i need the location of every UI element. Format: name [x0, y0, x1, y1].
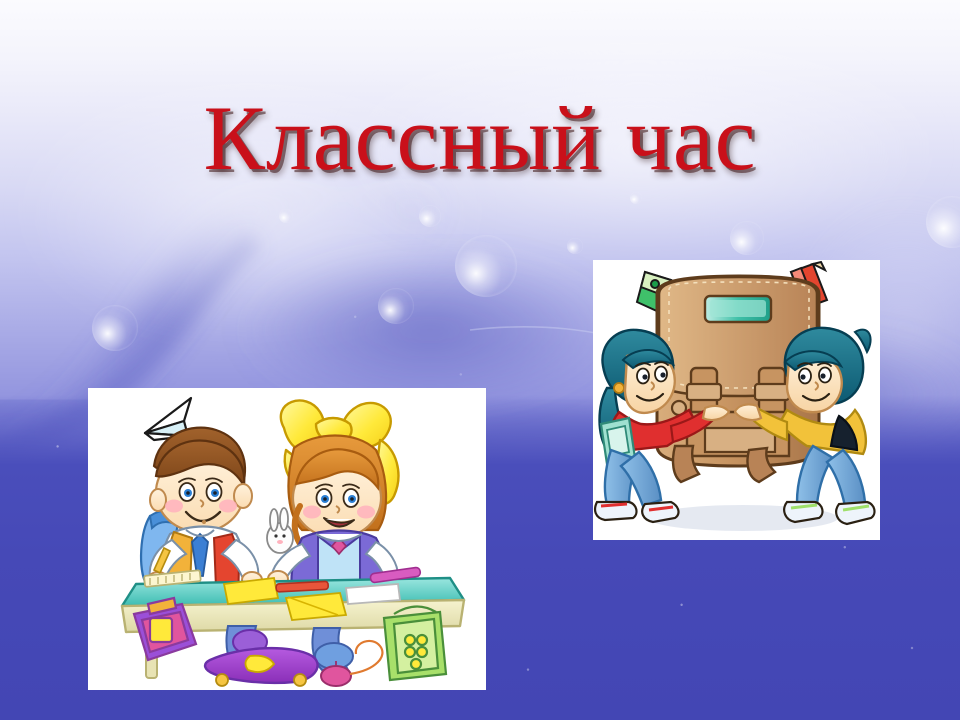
children-at-desk-clipart[interactable] [88, 388, 486, 690]
slide-title: Классный час [0, 92, 960, 184]
children-carrying-backpack-clipart[interactable] [593, 260, 880, 540]
presentation-slide: Классный час [0, 0, 960, 720]
